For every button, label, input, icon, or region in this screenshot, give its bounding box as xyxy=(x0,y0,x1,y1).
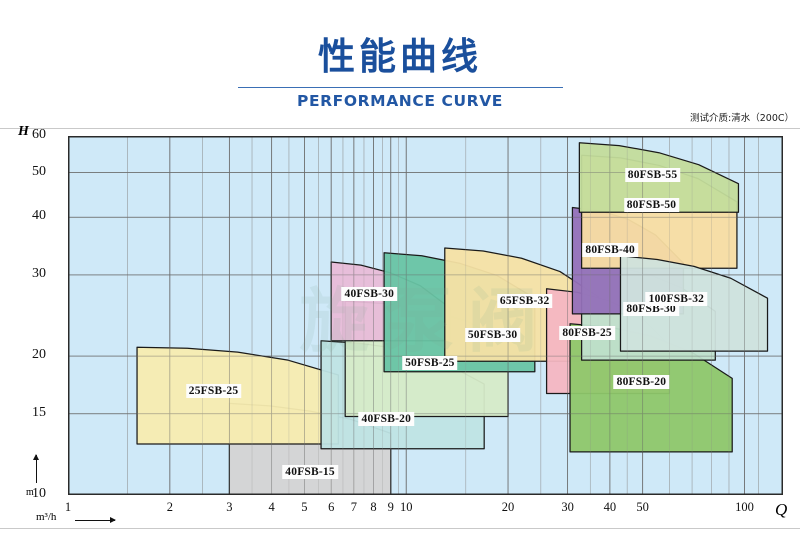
curve-label-80fsb-55: 80FSB-55 xyxy=(625,168,681,182)
curve-label-50fsb-25: 50FSB-25 xyxy=(402,356,458,370)
x-tick-40: 40 xyxy=(595,500,625,515)
x-tick-3: 3 xyxy=(214,500,244,515)
x-tick-10: 10 xyxy=(391,500,421,515)
y-tick-60: 60 xyxy=(12,127,46,143)
y-tick-50: 50 xyxy=(12,164,46,180)
title-divider xyxy=(238,87,563,88)
curve-label-40fsb-30: 40FSB-30 xyxy=(342,287,398,301)
x-tick-30: 30 xyxy=(553,500,583,515)
x-axis-arrow-icon xyxy=(75,520,115,521)
curve-label-40fsb-15: 40FSB-15 xyxy=(282,465,338,479)
x-tick-5: 5 xyxy=(289,500,319,515)
test-medium-note: 测试介质:清水（200C） xyxy=(690,110,794,124)
y-tick-15: 15 xyxy=(12,405,46,421)
y-tick-10: 10 xyxy=(12,486,46,502)
curve-label-80fsb-20: 80FSB-20 xyxy=(614,375,670,389)
curve-label-80fsb-50: 80FSB-50 xyxy=(624,198,680,212)
curve-label-40fsb-20: 40FSB-20 xyxy=(359,412,415,426)
x-tick-4: 4 xyxy=(257,500,287,515)
page-title-en: PERFORMANCE CURVE xyxy=(0,92,800,110)
page-title-cn: 性能曲线 xyxy=(0,34,800,80)
curve-label-65fsb-32: 65FSB-32 xyxy=(497,294,553,308)
x-tick-1: 1 xyxy=(53,500,83,515)
curve-label-100fsb-32: 100FSB-32 xyxy=(646,292,707,306)
footer-divider xyxy=(0,528,800,529)
y-tick-40: 40 xyxy=(12,208,46,224)
performance-curve-page: 性能曲线 PERFORMANCE CURVE 测试介质:清水（200C） H Q… xyxy=(0,0,800,549)
x-tick-100: 100 xyxy=(729,500,759,515)
header-divider xyxy=(0,128,800,129)
x-tick-20: 20 xyxy=(493,500,523,515)
chart-plot-area: 旋泵阀 40FSB-1525FSB-2540FSB-2050FSB-2540FS… xyxy=(68,136,783,495)
curve-label-80fsb-25: 80FSB-25 xyxy=(559,326,615,340)
y-axis-arrow-icon xyxy=(36,455,37,483)
curve-label-50fsb-30: 50FSB-30 xyxy=(465,328,521,342)
curve-label-80fsb-40: 80FSB-40 xyxy=(582,243,638,257)
y-tick-20: 20 xyxy=(12,347,46,363)
x-tick-2: 2 xyxy=(155,500,185,515)
x-tick-50: 50 xyxy=(628,500,658,515)
y-tick-30: 30 xyxy=(12,266,46,282)
curve-label-25fsb-25: 25FSB-25 xyxy=(186,384,242,398)
x-axis-symbol: Q xyxy=(775,500,787,520)
